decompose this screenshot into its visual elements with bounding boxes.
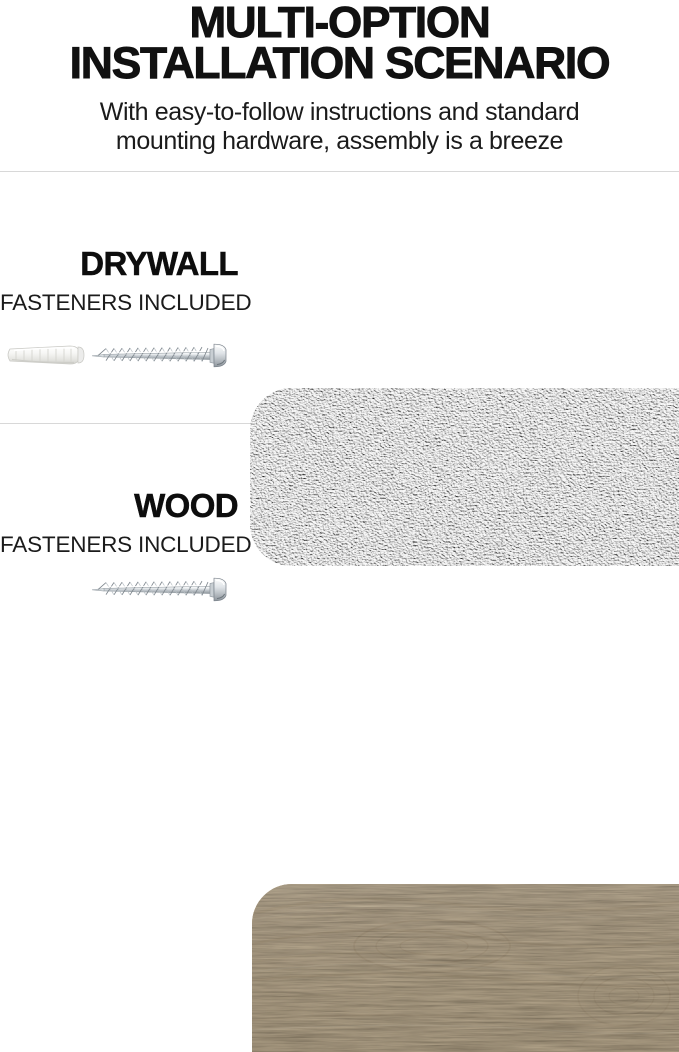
- section-drywall: DRYWALL FASTENERS INCLUDED: [0, 175, 679, 423]
- installation-scenario-infographic: MULTI-OPTION INSTALLATION SCENARIO With …: [0, 0, 679, 627]
- section-wood: WOOD FASTENERS INCLUDED: [0, 425, 679, 627]
- wall-anchor-icon: [8, 346, 84, 364]
- drywall-material-name: DRYWALL: [0, 247, 238, 280]
- wood-labels: WOOD FASTENERS INCLUDED: [0, 489, 238, 557]
- screw-icon: [92, 578, 226, 601]
- screw-icon: [92, 344, 226, 367]
- page-title: MULTI-OPTION INSTALLATION SCENARIO: [0, 0, 679, 85]
- subtitle-line-2: mounting hardware, assembly is a breeze: [0, 127, 679, 156]
- subtitle-line-1: With easy-to-follow instructions and sta…: [0, 98, 679, 127]
- drywall-fasteners-note: FASTENERS INCLUDED: [0, 280, 238, 315]
- page-subtitle: With easy-to-follow instructions and sta…: [0, 85, 679, 156]
- wood-material-name: WOOD: [0, 489, 238, 522]
- wood-fasteners-note: FASTENERS INCLUDED: [0, 522, 238, 557]
- drywall-hardware-group: [0, 333, 240, 377]
- title-line-2: INSTALLATION SCENARIO: [0, 43, 679, 85]
- divider-top: [0, 171, 679, 172]
- wood-swatch: [252, 884, 679, 1052]
- header: MULTI-OPTION INSTALLATION SCENARIO With …: [0, 0, 679, 156]
- title-line-1: MULTI-OPTION: [0, 0, 679, 43]
- wood-hardware-group: [0, 567, 240, 611]
- drywall-labels: DRYWALL FASTENERS INCLUDED: [0, 247, 238, 315]
